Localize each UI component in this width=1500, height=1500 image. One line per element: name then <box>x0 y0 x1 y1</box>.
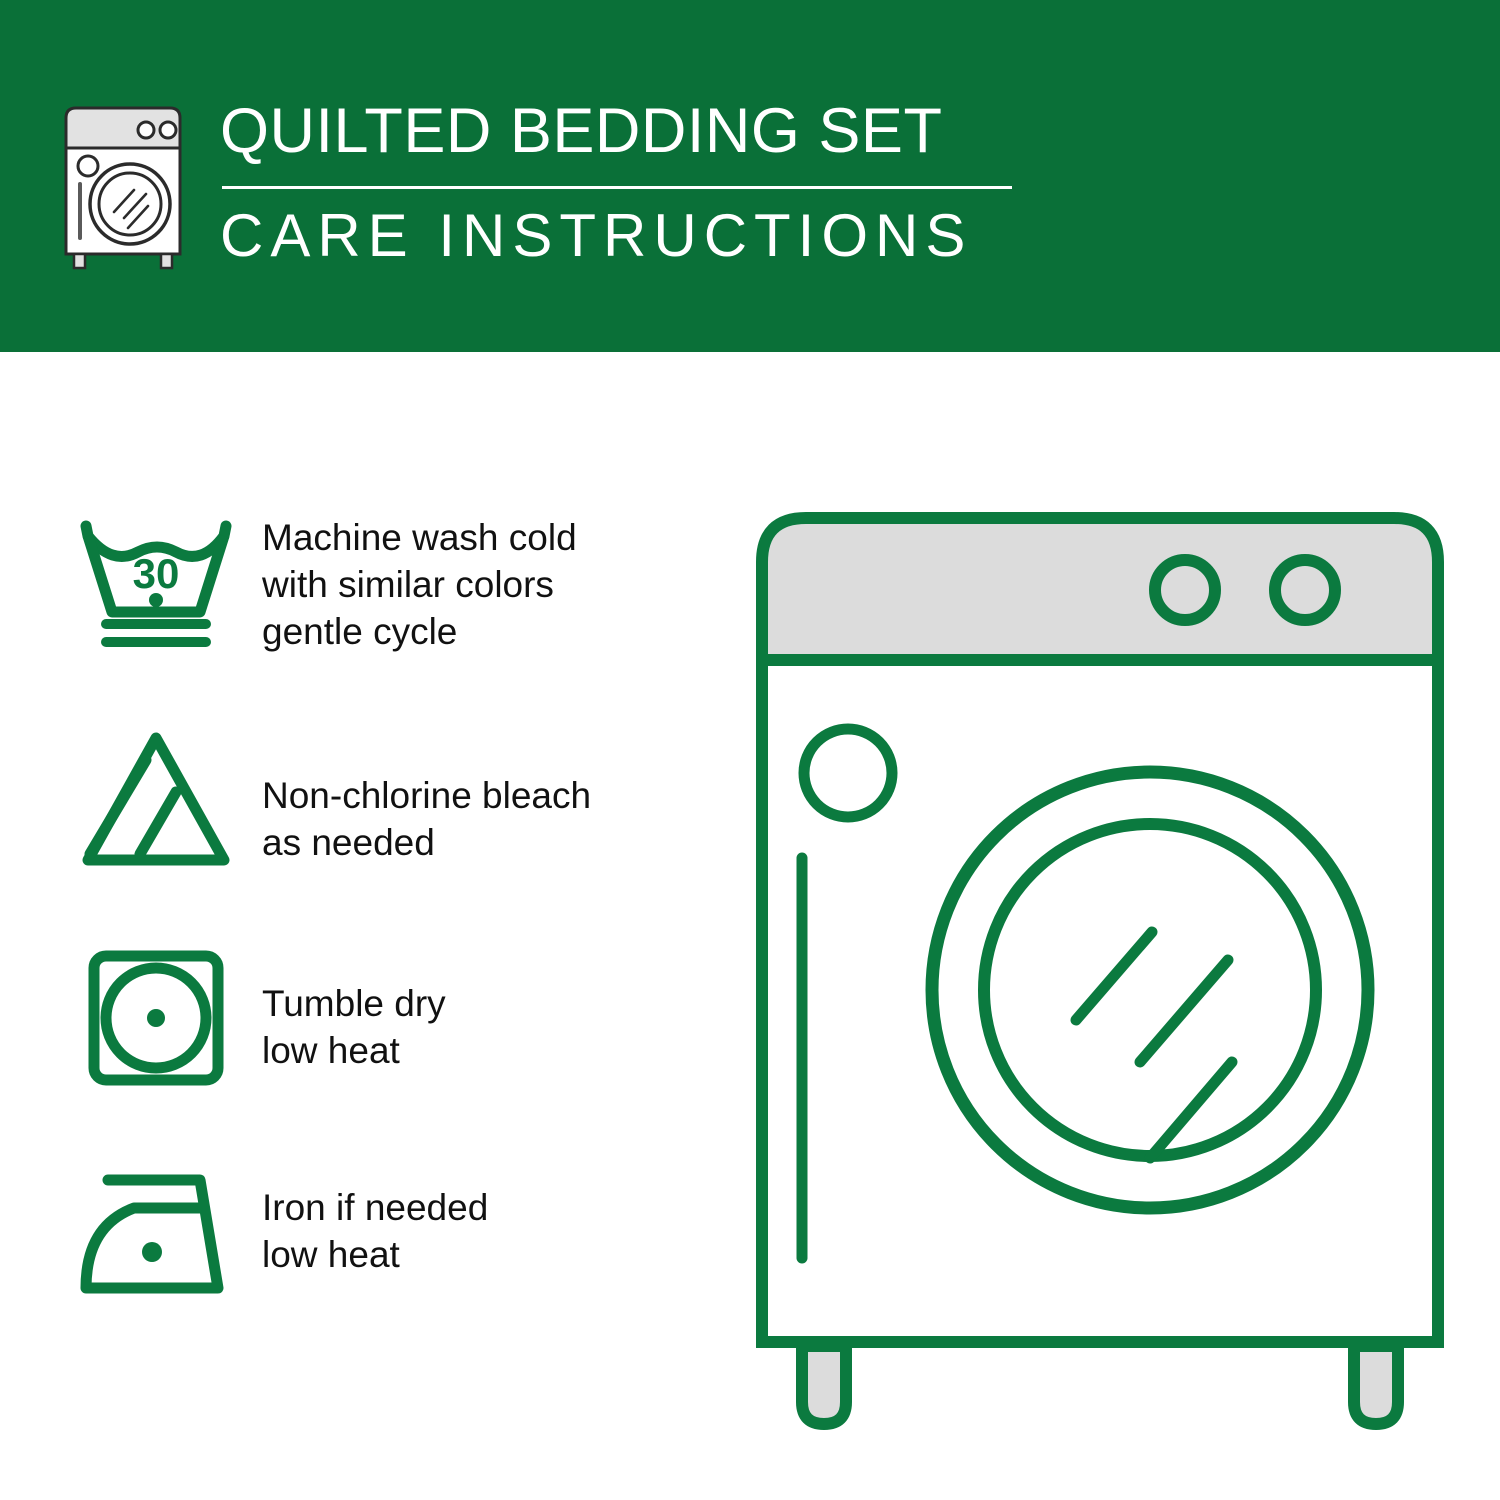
care-instructions-page: QUILTED BEDDING SET CARE INSTRUCTIONS 30 <box>0 0 1500 1500</box>
instruction-row-bleach: Non-chlorine bleach as needed <box>72 720 712 940</box>
header-divider <box>222 186 1012 189</box>
knob-right <box>1275 560 1335 620</box>
instruction-line: gentle cycle <box>262 608 712 655</box>
instruction-text-iron: Iron if needed low heat <box>242 1160 712 1278</box>
indicator-light <box>804 729 892 817</box>
instruction-row-iron: Iron if needed low heat <box>72 1160 712 1380</box>
instruction-line: Machine wash cold <box>262 514 712 561</box>
instruction-text-wash: Machine wash cold with similar colors ge… <box>242 500 712 655</box>
instruction-row-wash: 30 Machine wash cold with similar colors… <box>72 500 712 720</box>
wash-tub-30-gentle-icon: 30 <box>72 500 242 660</box>
tumble-dry-low-heat-icon <box>72 940 242 1100</box>
page-subtitle: CARE INSTRUCTIONS <box>220 203 1058 269</box>
instruction-line: low heat <box>262 1231 712 1278</box>
header-text-block: QUILTED BEDDING SET CARE INSTRUCTIONS <box>220 96 1058 269</box>
wash-temperature-value: 30 <box>133 550 180 597</box>
instruction-line: with similar colors <box>262 561 712 608</box>
non-chlorine-bleach-triangle-icon <box>72 720 242 880</box>
leg-right <box>1354 1346 1398 1424</box>
iron-low-heat-icon <box>72 1160 242 1320</box>
washing-machine-icon <box>58 104 188 272</box>
front-load-washing-machine-illustration <box>740 490 1460 1430</box>
instruction-list: 30 Machine wash cold with similar colors… <box>72 500 712 1380</box>
instruction-row-tumble-dry: Tumble dry low heat <box>72 940 712 1160</box>
door-inner-ring <box>984 824 1316 1156</box>
instruction-text-tumble-dry: Tumble dry low heat <box>242 940 712 1074</box>
leg-left <box>802 1346 846 1424</box>
instruction-line: as needed <box>262 819 712 866</box>
instruction-line: Iron if needed <box>262 1184 712 1231</box>
instruction-line: Non-chlorine bleach <box>262 772 712 819</box>
header-band: QUILTED BEDDING SET CARE INSTRUCTIONS <box>0 0 1500 352</box>
knob-left <box>1155 560 1215 620</box>
instruction-line: Tumble dry <box>262 980 712 1027</box>
header-inner: QUILTED BEDDING SET CARE INSTRUCTIONS <box>58 96 1058 276</box>
instruction-text-bleach: Non-chlorine bleach as needed <box>242 720 712 866</box>
page-title: QUILTED BEDDING SET <box>220 96 1058 166</box>
instruction-line: low heat <box>262 1027 712 1074</box>
